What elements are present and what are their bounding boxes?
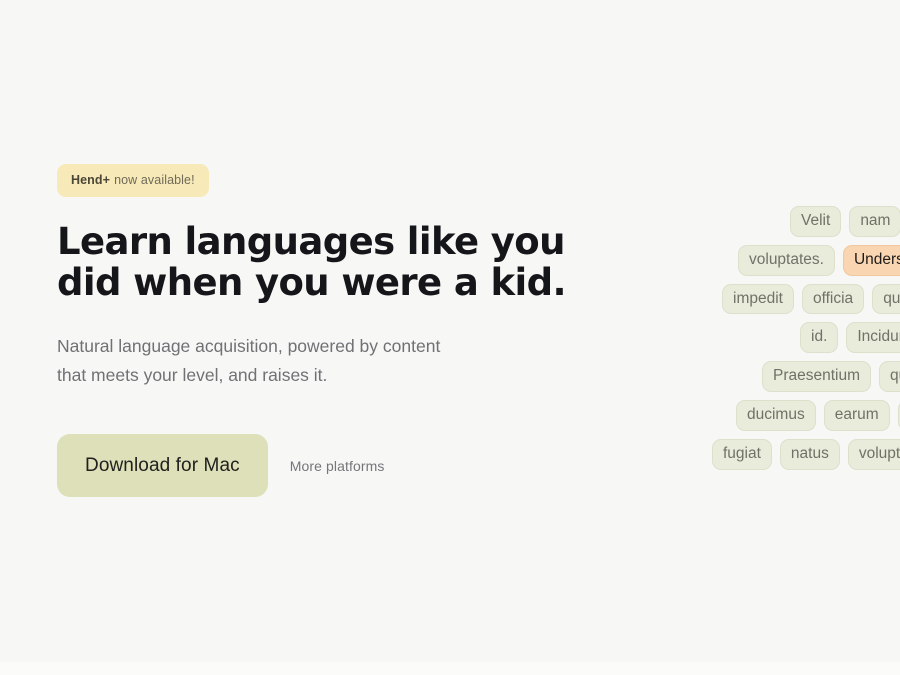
chip-row: id.Incidunt (800, 322, 900, 353)
word-chip[interactable]: officia (802, 284, 864, 315)
subtitle-line-1: Natural language acquisition, powered by… (57, 332, 577, 361)
word-chip[interactable]: Velit (790, 206, 841, 237)
chip-row: Velitnamnostrum (790, 206, 900, 237)
hero-section: Hend+ now available! Learn languages lik… (0, 0, 900, 675)
badge-product-name: Hend+ (71, 173, 110, 187)
word-chip[interactable]: natus (780, 439, 840, 470)
chip-row: voluptates.Understand (738, 245, 900, 276)
badge-message: now available! (114, 173, 195, 187)
download-for-mac-button[interactable]: Download for Mac (57, 434, 268, 497)
word-chip[interactable]: nam (849, 206, 900, 237)
page-title: Learn languages like you did when you we… (57, 221, 617, 303)
word-chip[interactable]: impedit (722, 284, 794, 315)
announcement-badge[interactable]: Hend+ now available! (57, 164, 209, 197)
more-platforms-link[interactable]: More platforms (290, 458, 385, 474)
word-chip[interactable]: fugiat (712, 439, 772, 470)
subtitle-line-2: that meets your level, and raises it. (57, 361, 577, 390)
hero-subtitle: Natural language acquisition, powered by… (57, 332, 577, 389)
chip-row: impeditofficiaquasi (722, 284, 900, 315)
word-chip[interactable]: voluptates. (738, 245, 835, 276)
cta-row: Download for Mac More platforms (57, 434, 657, 497)
word-chip-highlighted[interactable]: Understand (843, 245, 900, 276)
chip-row: fugiatnatusvoluptas (712, 439, 900, 470)
word-chip[interactable]: Incidunt (846, 322, 900, 353)
chip-row: ducimusearumatque (736, 400, 900, 431)
word-chip[interactable]: id. (800, 322, 838, 353)
word-chip[interactable]: quasi (872, 284, 900, 315)
chip-row: Praesentiumquos (762, 361, 900, 392)
section-divider-strip (0, 662, 900, 675)
word-chip[interactable]: voluptas (848, 439, 900, 470)
headline-line-1: Learn languages like you (57, 221, 617, 262)
hero-copy-column: Hend+ now available! Learn languages lik… (57, 164, 657, 497)
word-chip[interactable]: Praesentium (762, 361, 871, 392)
headline-line-2: did when you were a kid. (57, 262, 617, 303)
word-chip[interactable]: earum (824, 400, 890, 431)
word-chip-cloud: Velitnamnostrumvoluptates.Understandimpe… (700, 206, 900, 470)
word-chip[interactable]: ducimus (736, 400, 816, 431)
word-chip[interactable]: quos (879, 361, 900, 392)
